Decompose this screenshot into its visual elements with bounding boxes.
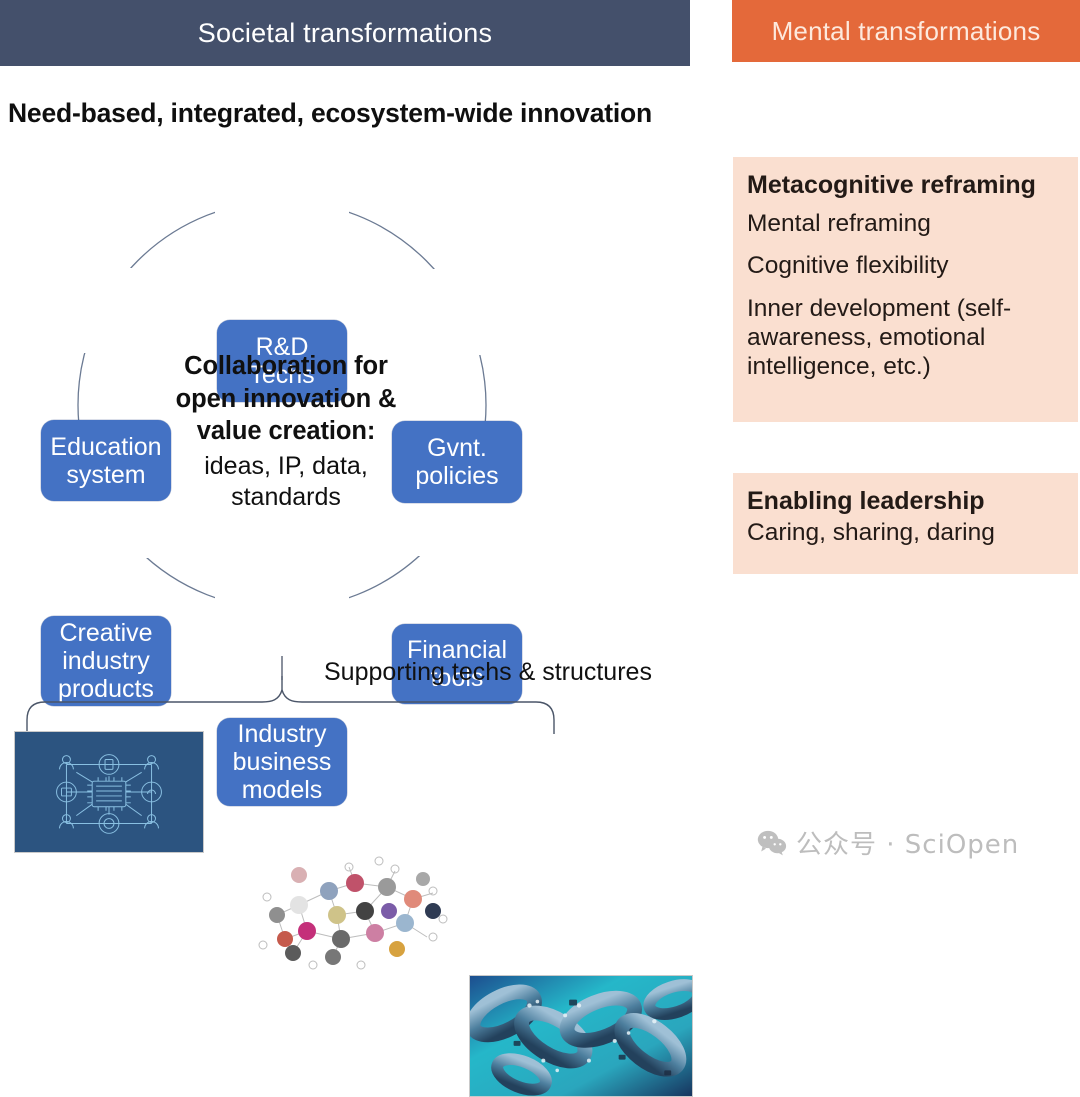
thumbnail-blockchain[interactable]: Blockchain [469,975,693,1097]
panel-leadership-title: Enabling leadership [747,487,1064,516]
watermark: 公众号 · SciOpen [757,824,1019,861]
panel-enabling-leadership: Enabling leadership Caring, sharing, dar… [733,473,1078,574]
header-mental-transformations: Mental transformations [732,0,1080,62]
cycle-center-text: Collaboration foropen innovation &value … [138,350,434,513]
supporting-bracket [0,676,700,736]
cycle-center-subtext: ideas, IP, data,standards [138,451,434,514]
peer-network-icon [237,853,459,975]
panel-metacognitive-line-3: Inner development (self-awareness, emoti… [747,294,1064,382]
header-mental-label: Mental transformations [772,16,1041,47]
panel-metacognitive-line-2: Cognitive flexibility [747,251,1064,280]
thumbnail-decentralized-governance[interactable]: Decentralized governance [237,853,459,975]
header-societal-label: Societal transformations [198,18,492,49]
metal-chain-icon [470,976,692,1096]
thumbnail-smart-contracts[interactable]: Smart contracts [14,731,204,853]
header-societal-transformations: Societal transformations [0,0,690,66]
cycle-center-heading: Collaboration foropen innovation &value … [138,350,434,448]
panel-metacognitive-reframing: Metacognitive reframing Mental reframing… [733,157,1078,422]
slide-root: Societal transformations Mental transfor… [0,0,1080,887]
smart-contract-network-icon [15,732,203,852]
panel-metacognitive-line-1: Mental reframing [747,209,1064,238]
panel-metacognitive-title: Metacognitive reframing [747,171,1064,200]
page-subtitle: Need-based, integrated, ecosystem-wide i… [8,98,652,129]
panel-leadership-line-1: Caring, sharing, daring [747,518,1064,547]
wechat-icon [757,830,787,856]
watermark-text: 公众号 · SciOpen [796,824,1019,861]
